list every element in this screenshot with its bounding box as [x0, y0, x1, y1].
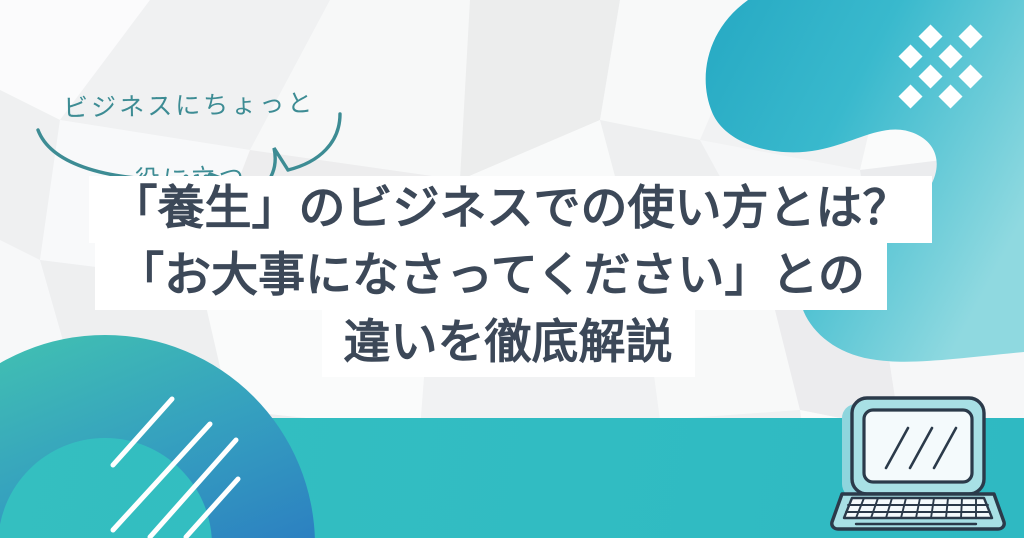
laptop-lid	[852, 398, 984, 494]
page-title: 「養生」のビジネスでの使い方とは？ 「お大事になさってください」との 違いを徹底…	[0, 176, 1024, 377]
bubble-caption-line-1: ビジネスにちょっと	[19, 84, 360, 127]
title-line-1: 「養生」のビジネスでの使い方とは？	[89, 176, 932, 243]
title-line-2: 「お大事になさってください」との	[95, 243, 887, 310]
laptop-illustration-icon	[826, 388, 1012, 536]
thumbnail-canvas: ビジネスにちょっと 役に立つ 「養生」のビジネスでの使い方とは？ 「お大事になさ…	[0, 0, 1024, 538]
title-line-3: 違いを徹底解説	[322, 310, 695, 377]
